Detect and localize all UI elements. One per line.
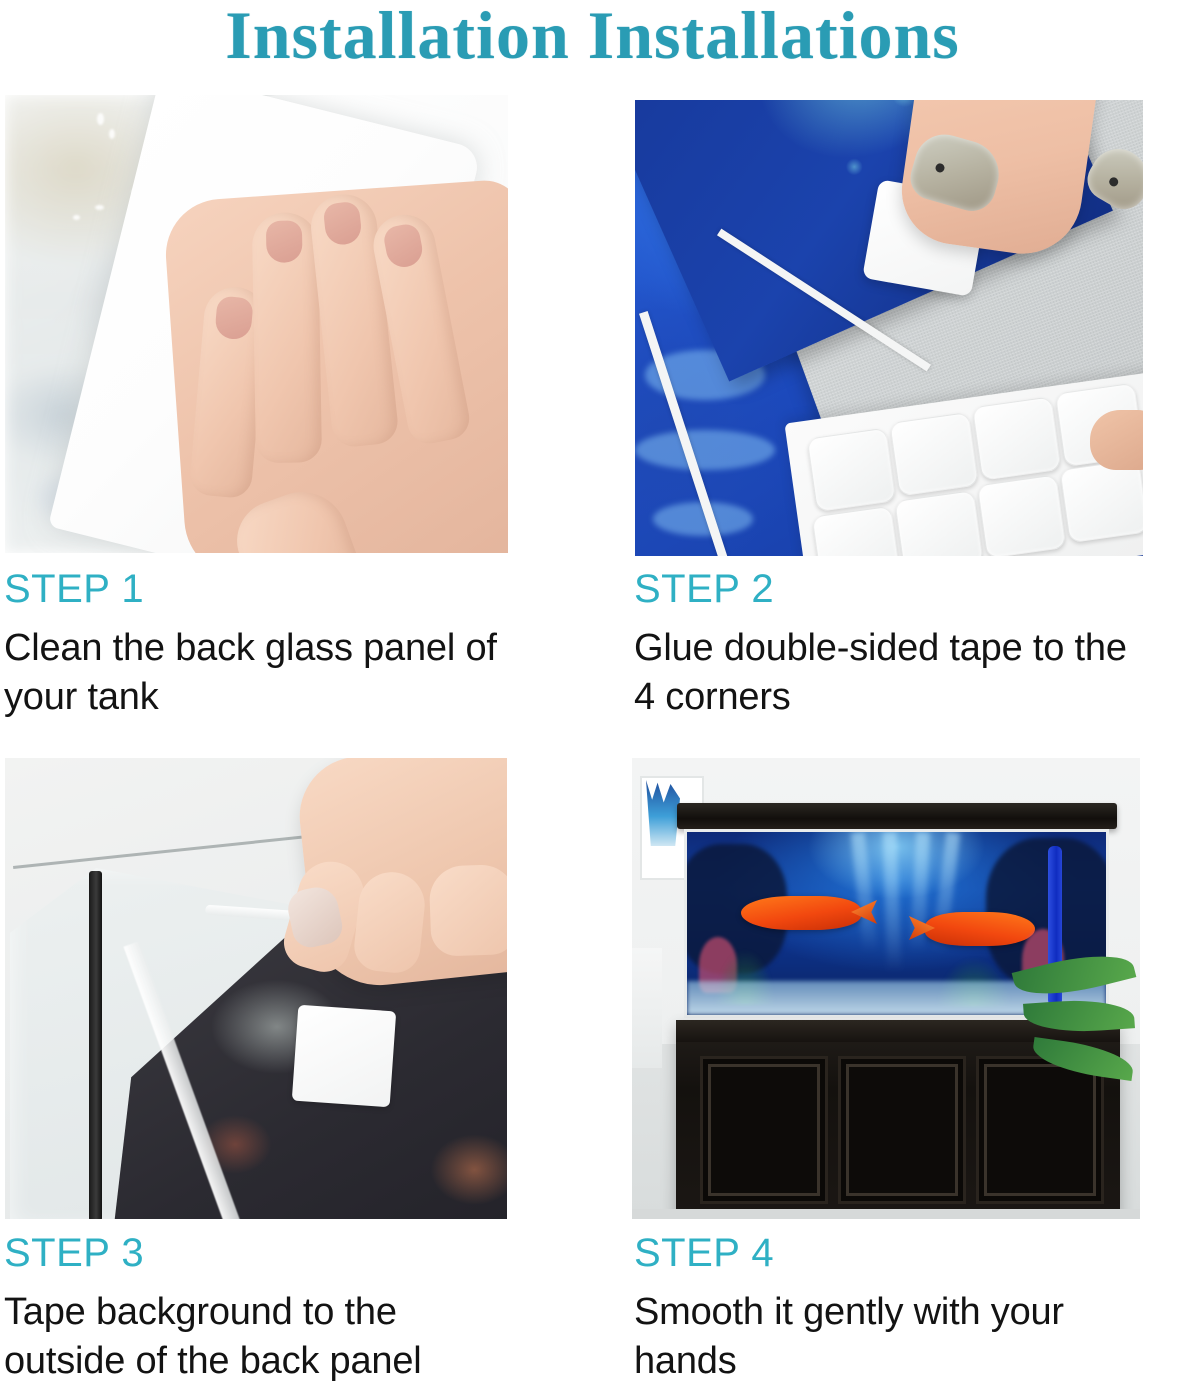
- step-3-image: [5, 758, 507, 1219]
- step-4-text: Smooth it gently with your hands: [634, 1288, 1154, 1385]
- aquarium-hood: [677, 803, 1117, 829]
- side-furniture: [632, 948, 662, 1068]
- adhesive-pad: [807, 428, 897, 512]
- step-3-label: STEP 3: [4, 1232, 524, 1274]
- middle-finger: [252, 212, 322, 463]
- plant-leaf: [1023, 996, 1135, 1036]
- adhesive-pad: [977, 474, 1067, 556]
- water-droplet: [109, 129, 115, 139]
- plant-leaf: [1030, 1037, 1135, 1081]
- water-droplet: [97, 113, 104, 125]
- step-2-caption: STEP 2 Glue double-sided tape to the 4 c…: [634, 568, 1154, 721]
- hand: [294, 758, 507, 992]
- floor-strip: [632, 1209, 1140, 1219]
- double-sided-tape-square: [292, 1005, 396, 1108]
- water-droplet: [73, 215, 80, 220]
- photo-finished-aquarium: [632, 758, 1140, 1219]
- middle-finger: [352, 869, 428, 975]
- adhesive-pad: [1060, 459, 1143, 543]
- tank-black-corner-trim: [89, 871, 102, 1219]
- fingernail: [214, 296, 254, 341]
- step-2-text: Glue double-sided tape to the 4 corners: [634, 624, 1154, 721]
- fingernail: [266, 220, 303, 263]
- thumb: [429, 864, 507, 957]
- step-4-caption: STEP 4 Smooth it gently with your hands: [634, 1232, 1154, 1385]
- water-pattern: [635, 430, 775, 470]
- thumb: [226, 479, 370, 553]
- houseplant: [1004, 958, 1140, 1128]
- second-thumb: [1090, 410, 1143, 470]
- step-1-label: STEP 1: [4, 568, 524, 610]
- adhesive-pad: [889, 412, 979, 496]
- photo-tape-to-tank: [5, 758, 507, 1219]
- step-1-text: Clean the back glass panel of your tank: [4, 624, 524, 721]
- water-droplet: [95, 205, 104, 210]
- page-title: Installation Installations: [0, 0, 1185, 75]
- step-2-image: [635, 100, 1143, 556]
- step-3-text: Tape background to the outside of the ba…: [4, 1288, 524, 1385]
- step-3-caption: STEP 3 Tape background to the outside of…: [4, 1232, 524, 1385]
- orange-arowana-fish-left: [741, 896, 861, 930]
- installation-guide-page: Installation Installations: [0, 0, 1185, 1398]
- cabinet-door-left[interactable]: [700, 1056, 828, 1204]
- photo-clean-glass: [5, 95, 508, 553]
- fingernail: [323, 201, 363, 247]
- photo-apply-tape: [635, 100, 1143, 556]
- orange-arowana-fish-right: [925, 912, 1035, 946]
- step-4-image: [632, 758, 1140, 1219]
- fingernail: [382, 222, 425, 270]
- step-4-label: STEP 4: [634, 1232, 1154, 1274]
- step-1-caption: STEP 1 Clean the back glass panel of you…: [4, 568, 524, 721]
- cabinet-door-center[interactable]: [838, 1056, 966, 1204]
- hand: [162, 178, 508, 553]
- adhesive-pad: [894, 490, 984, 556]
- step-2-label: STEP 2: [634, 568, 1154, 610]
- adhesive-pad: [972, 396, 1062, 480]
- step-1-image: [5, 95, 508, 553]
- adhesive-pad: [812, 506, 902, 556]
